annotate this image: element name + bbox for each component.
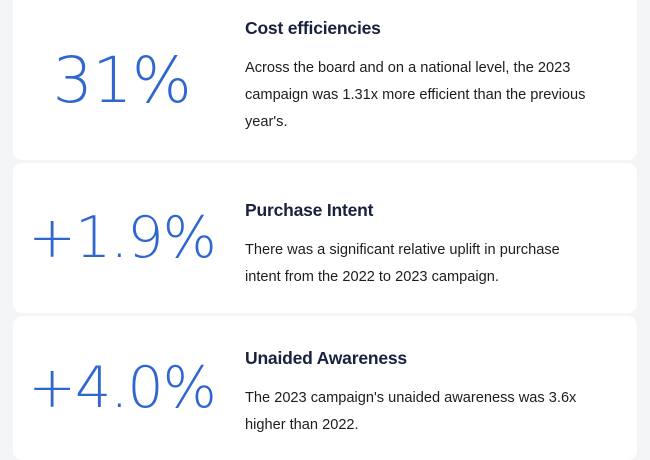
stat-card-cost-efficiencies: 31% Cost efficiencies Across the board a… xyxy=(13,0,637,160)
stat-description: Across the board and on a national level… xyxy=(245,55,597,136)
stat-heading: Cost efficiencies xyxy=(245,18,611,39)
stat-heading: Unaided Awareness xyxy=(245,348,611,369)
stat-figure-value: +1.9% xyxy=(28,210,216,267)
stat-card-unaided-awareness: +4.0% Unaided Awareness The 2023 campaig… xyxy=(13,316,637,460)
stat-figure-container: +4.0% xyxy=(13,316,245,460)
stat-figure-container: +1.9% xyxy=(13,163,245,313)
stats-board: 31% Cost efficiencies Across the board a… xyxy=(0,0,650,460)
stat-body: Cost efficiencies Across the board and o… xyxy=(245,0,637,136)
stat-heading: Purchase Intent xyxy=(245,200,611,221)
stat-body: Unaided Awareness The 2023 campaign's un… xyxy=(245,316,637,439)
stat-description: There was a significant relative uplift … xyxy=(245,237,597,291)
stat-figure-container: 31% xyxy=(13,0,245,160)
stat-card-purchase-intent: +1.9% Purchase Intent There was a signif… xyxy=(13,163,637,313)
stat-body: Purchase Intent There was a significant … xyxy=(245,163,637,291)
stat-figure-value: 31% xyxy=(53,49,192,112)
stat-figure-value: +4.0% xyxy=(28,360,216,417)
stat-description: The 2023 campaign's unaided awareness wa… xyxy=(245,385,597,439)
